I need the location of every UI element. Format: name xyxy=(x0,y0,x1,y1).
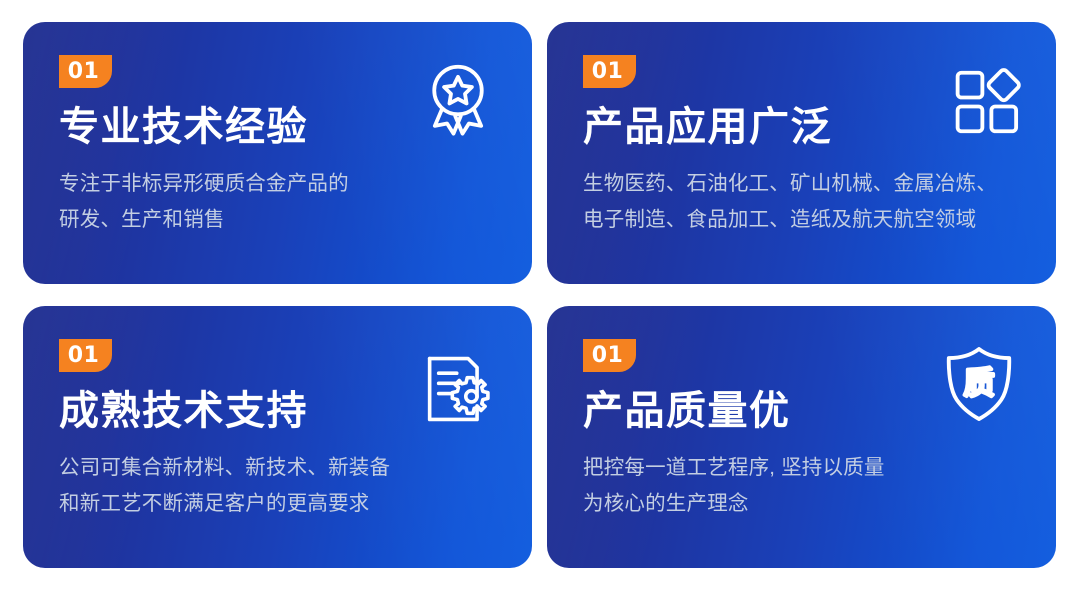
feature-card-wide-application[interactable]: 01 产品应用广泛 生物医药、石油化工、矿山机械、金属冶炼、 电子制造、食品加工… xyxy=(547,22,1056,284)
document-gear-icon xyxy=(422,354,496,424)
card-description-line: 生物医药、石油化工、矿山机械、金属冶炼、 xyxy=(583,166,1020,202)
feature-card-mature-tech-support[interactable]: 01 成熟技术支持 公司可集合新材料、新技术、新装备 和新工艺不断满足客户的更高… xyxy=(23,306,532,568)
card-number-badge: 01 xyxy=(583,55,636,88)
card-description-line: 研发、生产和销售 xyxy=(59,202,496,238)
card-description-line: 电子制造、食品加工、造纸及航天航空领域 xyxy=(583,202,1020,238)
card-description: 把控每一道工艺程序, 坚持以质量 为核心的生产理念 xyxy=(583,450,1020,523)
feature-card-professional-experience[interactable]: 01 专业技术经验 专注于非标异形硬质合金产品的 研发、生产和销售 xyxy=(23,22,532,284)
card-description: 专注于非标异形硬质合金产品的 研发、生产和销售 xyxy=(59,166,496,239)
card-description-line: 公司可集合新材料、新技术、新装备 xyxy=(59,450,496,486)
card-description-line: 专注于非标异形硬质合金产品的 xyxy=(59,166,496,202)
card-description-line: 为核心的生产理念 xyxy=(583,486,1020,522)
card-description-line: 和新工艺不断满足客户的更高要求 xyxy=(59,486,496,522)
grid-blocks-icon xyxy=(952,66,1024,138)
card-description-line: 把控每一道工艺程序, 坚持以质量 xyxy=(583,450,1020,486)
card-description: 生物医药、石油化工、矿山机械、金属冶炼、 电子制造、食品加工、造纸及航天航空领域 xyxy=(583,166,1020,239)
shield-quality-icon: 质 xyxy=(944,344,1014,424)
award-medal-icon xyxy=(420,62,496,138)
card-number-badge: 01 xyxy=(583,339,636,372)
feature-card-product-quality[interactable]: 01 产品质量优 把控每一道工艺程序, 坚持以质量 为核心的生产理念 质 xyxy=(547,306,1056,568)
card-description: 公司可集合新材料、新技术、新装备 和新工艺不断满足客户的更高要求 xyxy=(59,450,496,523)
card-number-badge: 01 xyxy=(59,55,112,88)
shield-glyph-text: 质 xyxy=(963,366,994,402)
card-number-badge: 01 xyxy=(59,339,112,372)
feature-card-grid: 01 专业技术经验 专注于非标异形硬质合金产品的 研发、生产和销售 01 产品应… xyxy=(0,0,1072,610)
